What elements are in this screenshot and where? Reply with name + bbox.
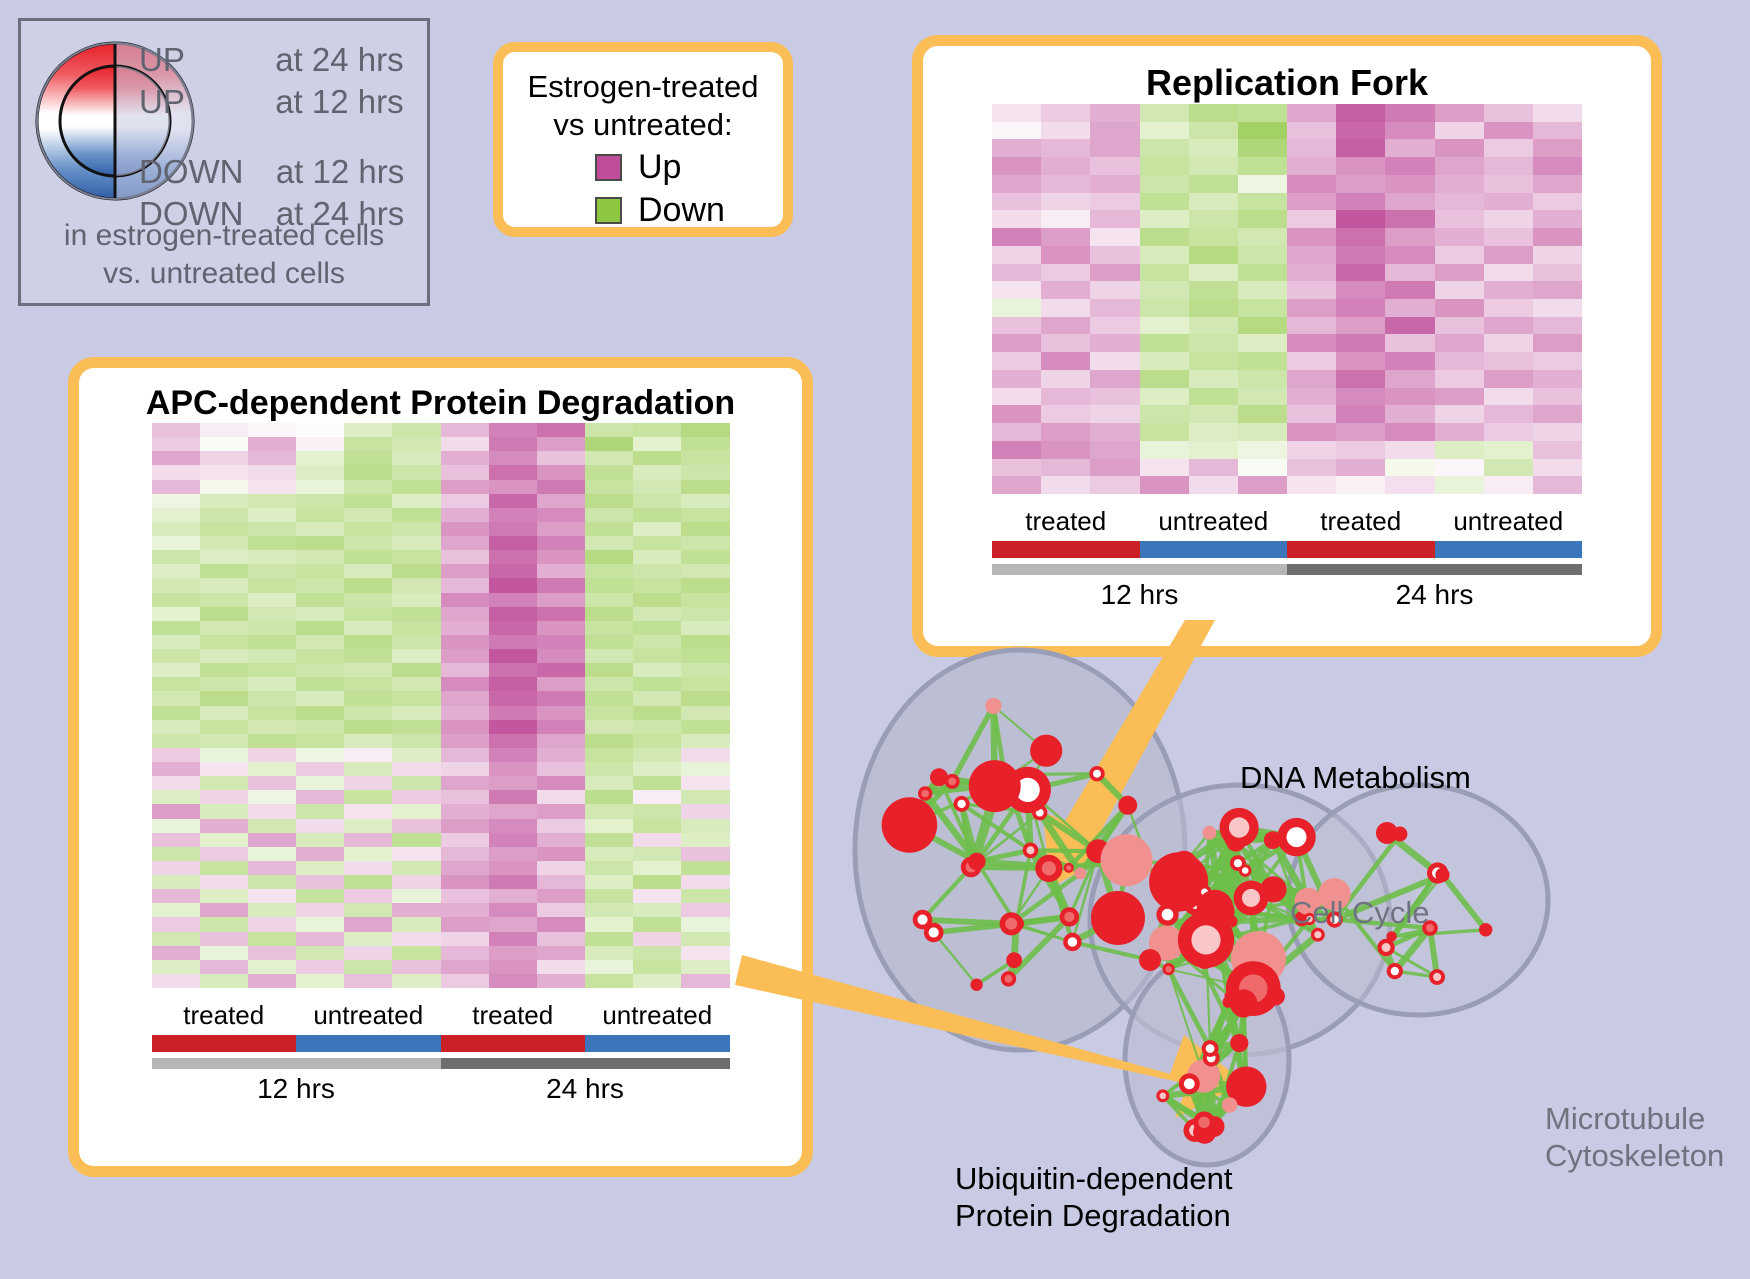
cluster-label-line2: Cytoskeleton [1545, 1137, 1724, 1174]
cluster-label-line1: Ubiquitin-dependent [955, 1160, 1233, 1197]
cluster-label-ubiquitin: Ubiquitin-dependent Protein Degradation [955, 1160, 1233, 1234]
cluster-label-microtubule-cytoskeleton: Microtubule Cytoskeleton [1545, 1100, 1724, 1174]
cluster-label-dna-metabolism: DNA Metabolism [1240, 760, 1471, 796]
network-diagram [0, 0, 1750, 1279]
cluster-label-cell-cycle: Cell Cycle [1290, 895, 1430, 931]
cluster-label-line1: Microtubule [1545, 1100, 1724, 1137]
cluster-label-line2: Protein Degradation [955, 1197, 1233, 1234]
